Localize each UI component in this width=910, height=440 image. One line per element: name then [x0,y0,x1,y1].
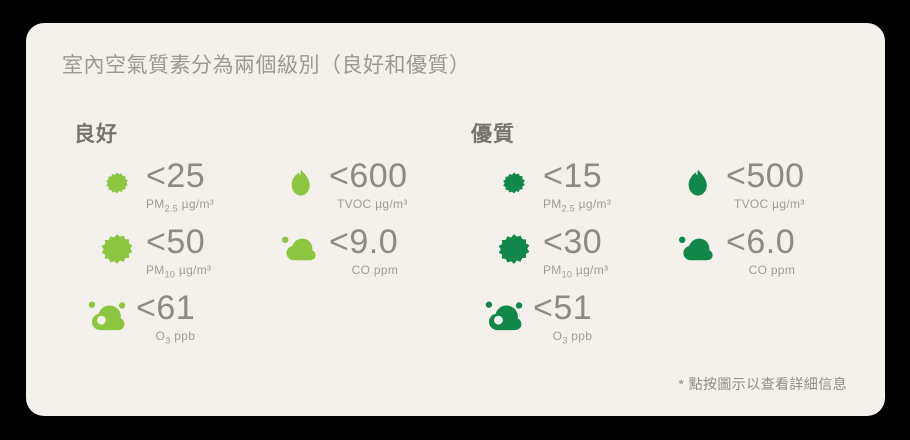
metric-unit: CO ppm [329,263,398,277]
metric-unit: CO ppm [726,263,795,277]
metric-values: <9.0 CO ppm [323,224,398,277]
metric-unit-text: µg/m³ [372,197,408,211]
flame-icon [277,160,323,206]
metric-value: <6.0 [726,224,795,260]
metric-row: <30 PM10 µg/m³ <6.0 CO ppm [469,224,869,290]
metric-value: <25 [146,158,214,194]
page-title: 室內空氣質素分為兩個級別（良好和優質） [62,49,471,79]
metric-values: <50 PM10 µg/m³ [140,224,211,279]
metric-name: PM [543,197,562,211]
metric-value: <61 [136,290,195,326]
metric-value: <500 [726,158,805,194]
metric-name: TVOC [734,197,769,211]
metric-values: <61 O3 ppb [130,290,195,345]
metric-name: O [553,329,563,343]
starburst-small-icon [491,160,537,206]
metric-unit: TVOC µg/m³ [726,197,805,211]
metric-unit-text: ppb [568,329,593,343]
metric-value: <51 [533,290,592,326]
metric-name: PM [146,263,165,277]
metric-unit: O3 ppb [533,329,592,345]
starburst-large-icon [491,226,537,272]
metric-row: <15 PM2.5 µg/m³ <500 TVOC µg/m³ [469,158,869,224]
metric-row: <25 PM2.5 µg/m³ <600 TVOC µg/m³ [72,158,472,224]
metric-item-o3-good[interactable]: <61 O3 ppb [84,290,195,345]
screenshot-root: 室內空氣質素分為兩個級別（良好和優質） 良好 <25 PM2.5 µg/m³ [0,0,910,440]
metric-unit-text: ppm [767,263,795,277]
metric-name: PM [543,263,562,277]
metric-name: PM [146,197,165,211]
metric-row: <61 O3 ppb [72,290,472,356]
metric-item-o3-excellent[interactable]: <51 O3 ppb [481,290,592,345]
metric-values: <15 PM2.5 µg/m³ [537,158,611,213]
metric-unit-text: ppm [370,263,398,277]
metric-value: <9.0 [329,224,398,260]
metric-unit-text: ppb [171,329,196,343]
cloud-ozone-icon [84,292,130,338]
starburst-small-icon [94,160,140,206]
metric-subscript: 2.5 [165,203,178,213]
metric-values: <600 TVOC µg/m³ [323,158,408,211]
flame-icon [674,160,720,206]
column-good: 良好 <25 PM2.5 µg/m³ <600 [72,118,472,356]
metric-unit-text: µg/m³ [178,197,214,211]
metric-unit: PM10 µg/m³ [543,263,608,279]
metric-unit: PM2.5 µg/m³ [543,197,611,213]
metric-unit: PM2.5 µg/m³ [146,197,214,213]
metric-item-pm10-excellent[interactable]: <30 PM10 µg/m³ [491,224,608,279]
metric-row: <51 O3 ppb [469,290,869,356]
metric-name: CO [749,263,768,277]
metric-value: <15 [543,158,611,194]
metric-unit-text: µg/m³ [769,197,805,211]
column-excellent: 優質 <15 PM2.5 µg/m³ <500 [469,118,869,356]
metric-values: <51 O3 ppb [527,290,592,345]
metric-name: CO [352,263,371,277]
metric-name: TVOC [337,197,372,211]
column-heading-good: 良好 [74,118,472,142]
metric-unit: PM10 µg/m³ [146,263,211,279]
metric-values: <6.0 CO ppm [720,224,795,277]
metric-item-co-excellent[interactable]: <6.0 CO ppm [674,224,795,277]
metric-unit: TVOC µg/m³ [329,197,408,211]
cloud-ozone-icon [481,292,527,338]
metric-name: O [156,329,166,343]
metric-values: <30 PM10 µg/m³ [537,224,608,279]
metric-value: <30 [543,224,608,260]
metric-item-pm25-excellent[interactable]: <15 PM2.5 µg/m³ [491,158,611,213]
metric-values: <25 PM2.5 µg/m³ [140,158,214,213]
metric-unit-text: µg/m³ [175,263,211,277]
metric-values: <500 TVOC µg/m³ [720,158,805,211]
metric-subscript: 10 [165,269,176,279]
metric-item-pm10-good[interactable]: <50 PM10 µg/m³ [94,224,211,279]
metric-unit-text: µg/m³ [575,197,611,211]
metric-item-tvoc-excellent[interactable]: <500 TVOC µg/m³ [674,158,805,211]
metric-unit-text: µg/m³ [572,263,608,277]
metric-value: <600 [329,158,408,194]
metric-item-pm25-good[interactable]: <25 PM2.5 µg/m³ [94,158,214,213]
cloud-dot-icon [674,226,720,272]
metric-item-co-good[interactable]: <9.0 CO ppm [277,224,398,277]
metric-subscript: 10 [562,269,573,279]
metric-value: <50 [146,224,211,260]
air-quality-card: 室內空氣質素分為兩個級別（良好和優質） 良好 <25 PM2.5 µg/m³ [26,23,885,416]
metric-item-tvoc-good[interactable]: <600 TVOC µg/m³ [277,158,408,211]
cloud-dot-icon [277,226,323,272]
metric-subscript: 2.5 [562,203,575,213]
metric-row: <50 PM10 µg/m³ <9.0 CO ppm [72,224,472,290]
starburst-large-icon [94,226,140,272]
metric-unit: O3 ppb [136,329,195,345]
footnote-hint: * 點按圖示以查看詳細信息 [678,374,847,394]
column-heading-excellent: 優質 [471,118,869,142]
